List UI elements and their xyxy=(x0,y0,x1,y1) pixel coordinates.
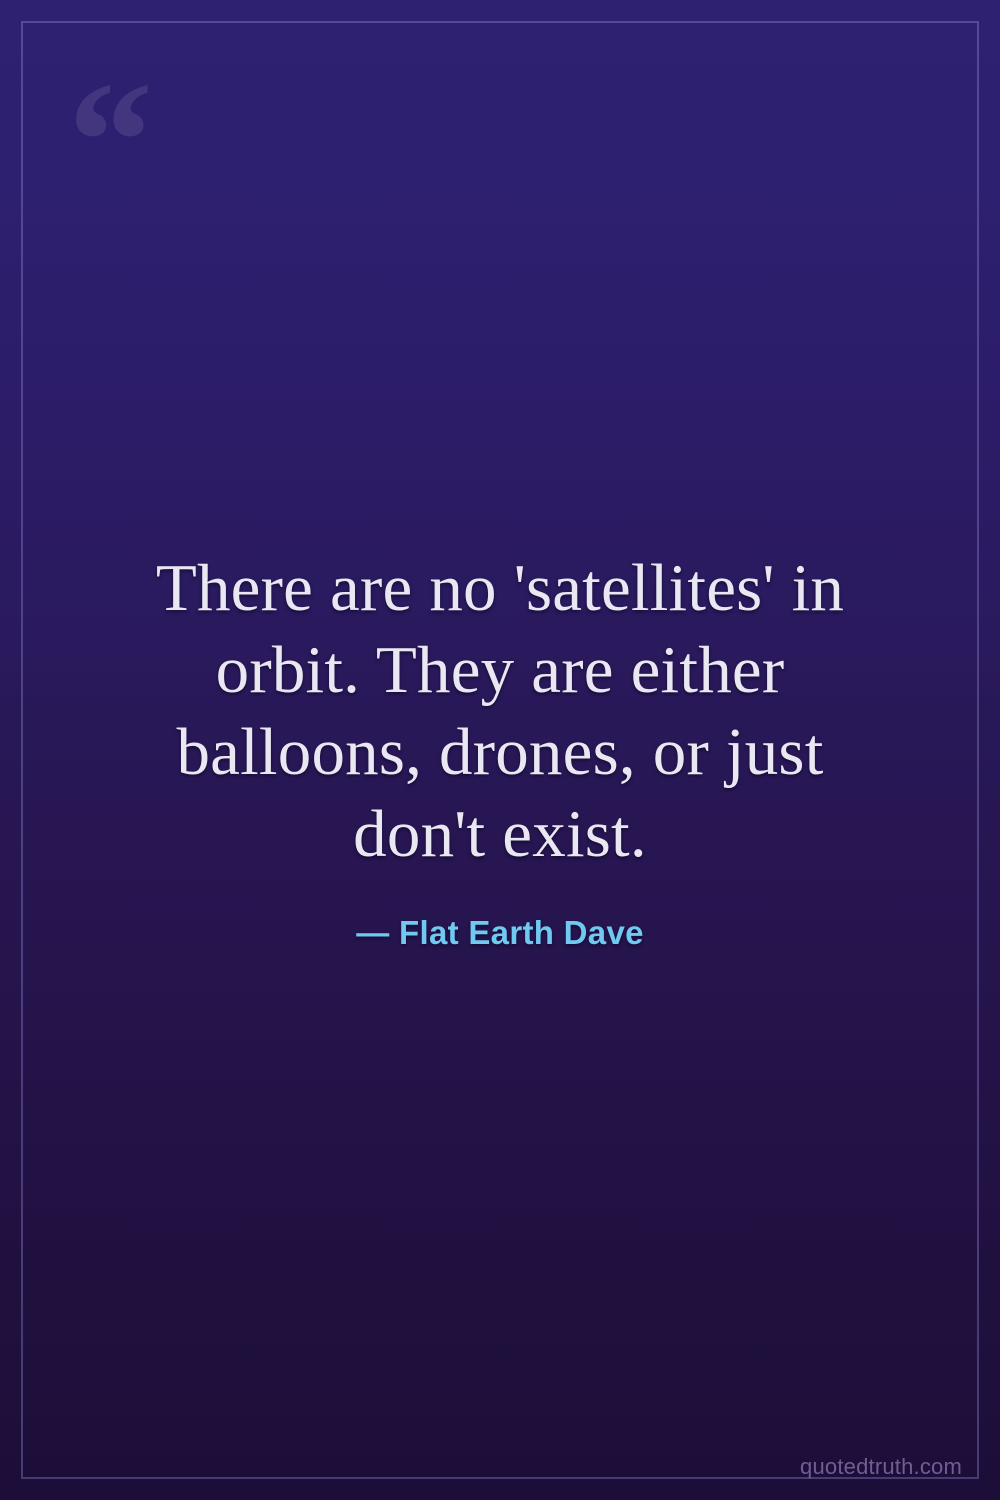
attribution-dash: — xyxy=(356,914,389,951)
attribution-author: Flat Earth Dave xyxy=(399,914,644,951)
quote-card: “ There are no 'satellites' in orbit. Th… xyxy=(0,0,1000,1500)
quote-content: There are no 'satellites' in orbit. They… xyxy=(0,0,1000,1500)
site-watermark: quotedtruth.com xyxy=(800,1456,962,1478)
quote-text: There are no 'satellites' in orbit. They… xyxy=(120,547,880,875)
quote-attribution: — Flat Earth Dave xyxy=(356,913,644,953)
